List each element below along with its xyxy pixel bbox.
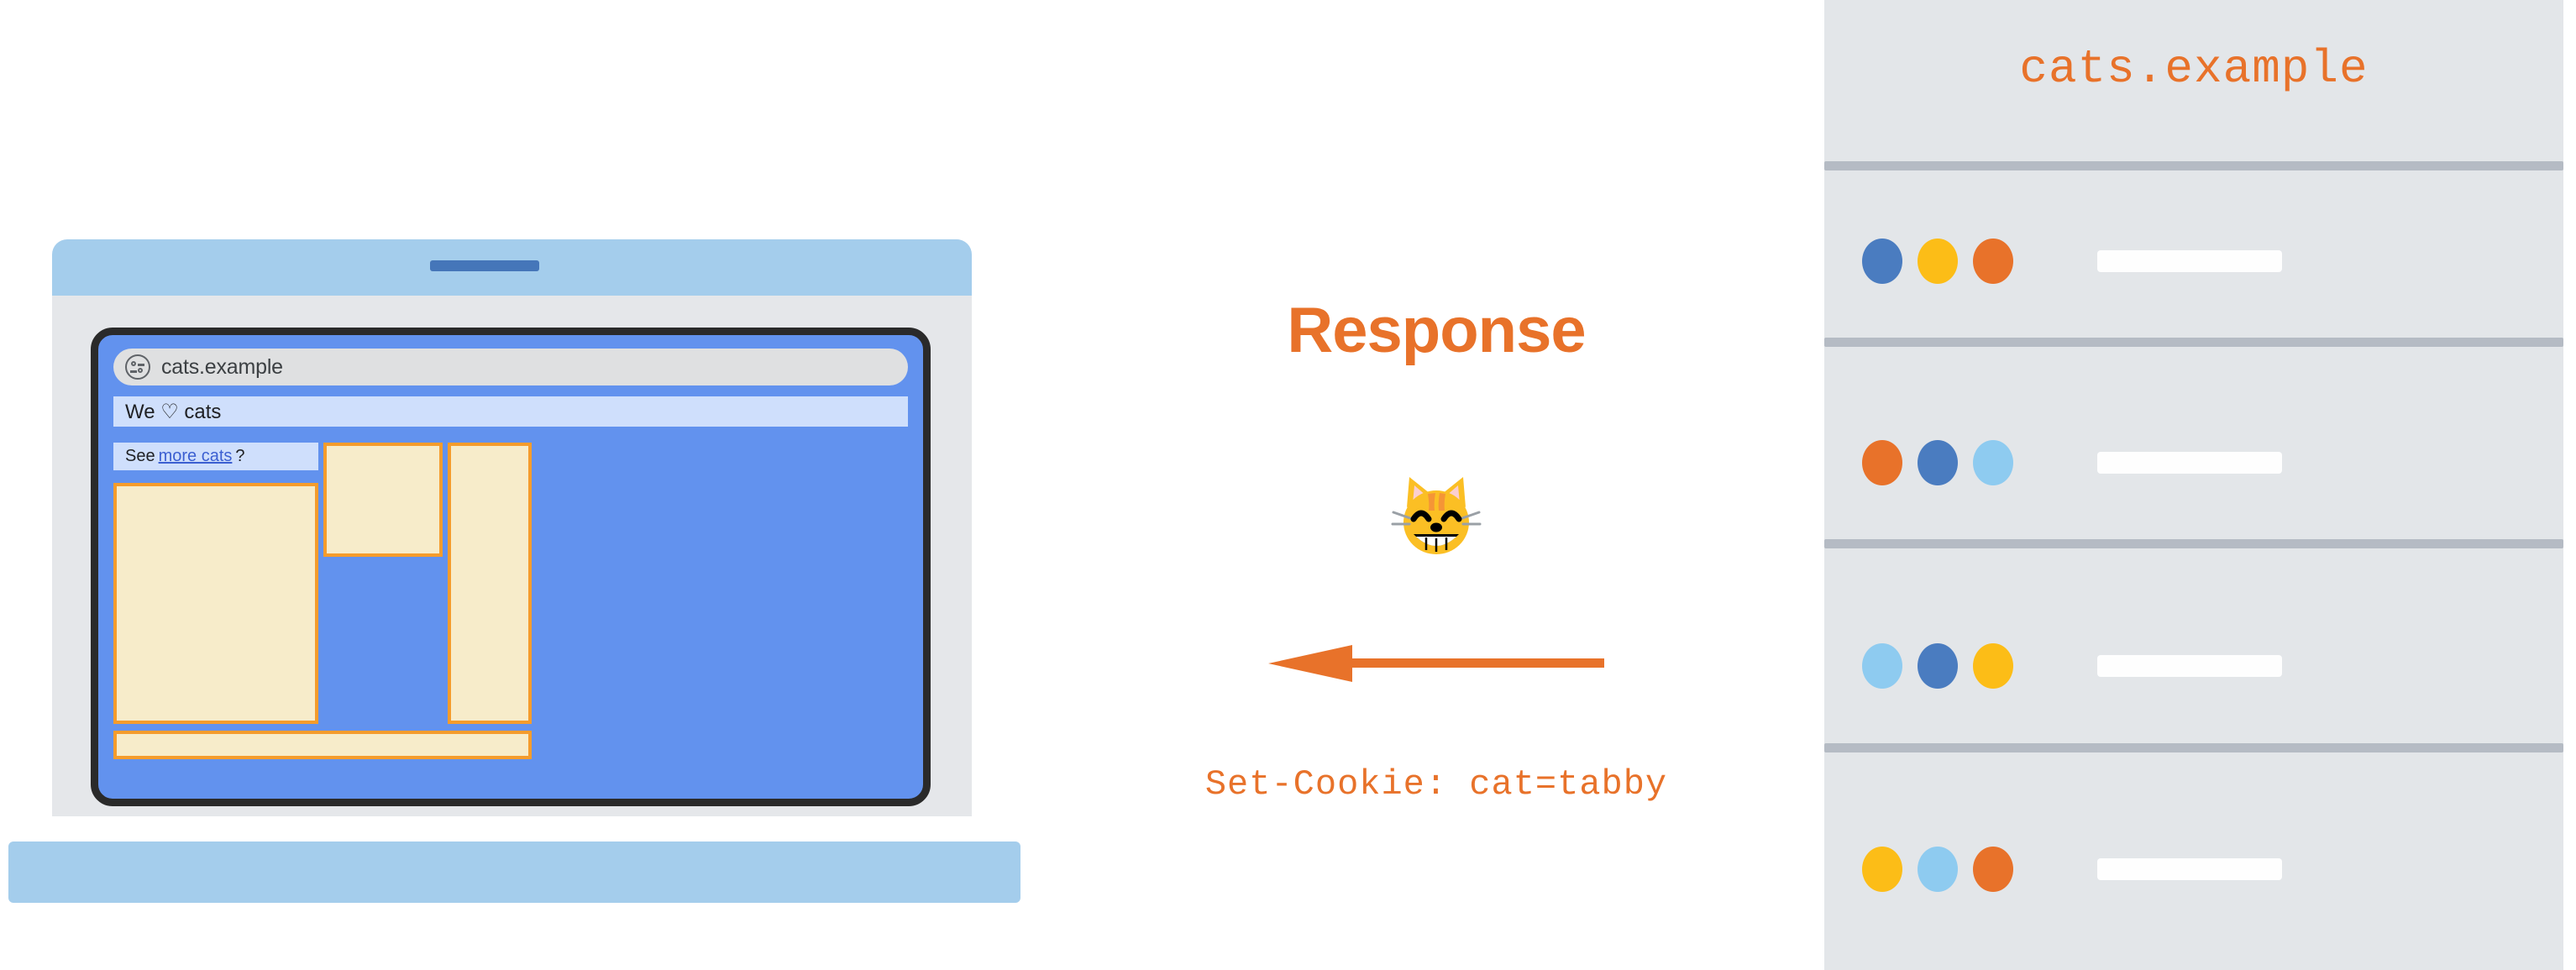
browser-window: cats.example We ♡ cats See more cats? — [91, 328, 931, 806]
server-dot — [1973, 643, 2013, 689]
laptop-lid-scribble — [430, 260, 539, 271]
site-settings-icon-line-bottom — [130, 370, 137, 373]
cat-emoji-container — [1058, 470, 1814, 567]
response-title: Response — [1058, 294, 1814, 367]
server-panel: cats.example — [1824, 0, 2563, 970]
server-dot — [1918, 847, 1958, 892]
laptop-base — [8, 842, 1020, 903]
server-row-placeholder-line — [2097, 250, 2282, 272]
server-divider-0 — [1824, 161, 2563, 170]
server-divider-3 — [1824, 743, 2563, 752]
server-dot — [1862, 847, 1902, 892]
laptop-illustration: cats.example We ♡ cats See more cats? — [0, 0, 1058, 970]
server-row — [1824, 638, 2563, 694]
server-row-placeholder-line — [2097, 452, 2282, 474]
site-settings-icon-dot-top — [131, 361, 136, 366]
address-bar[interactable]: cats.example — [113, 349, 908, 385]
server-dot — [1973, 847, 2013, 892]
response-arrow-container — [1058, 638, 1814, 693]
server-row — [1824, 842, 2563, 897]
site-settings-icon-dot-bottom — [138, 368, 143, 373]
address-bar-url[interactable]: cats.example — [161, 355, 283, 380]
site-settings-icon[interactable] — [125, 354, 150, 380]
server-dot — [1918, 440, 1958, 485]
set-cookie-header-text: Set-Cookie: cat=tabby — [1058, 764, 1814, 805]
server-row — [1824, 233, 2563, 289]
server-row-placeholder-line — [2097, 858, 2282, 880]
server-dot — [1973, 440, 2013, 485]
link-line-prefix: See — [125, 447, 155, 466]
server-row-placeholder-line — [2097, 655, 2282, 677]
server-title: cats.example — [1824, 42, 2563, 96]
page-heading: We ♡ cats — [113, 396, 908, 427]
server-divider-1 — [1824, 338, 2563, 347]
content-block-footer — [113, 731, 532, 759]
server-dot — [1862, 643, 1902, 689]
content-block-sidebar — [448, 443, 532, 724]
content-block-main — [113, 483, 318, 724]
content-block-top-middle — [323, 443, 443, 557]
server-divider-2 — [1824, 539, 2563, 548]
page-link-line: See more cats? — [113, 443, 318, 470]
content-block-middle-empty — [323, 562, 443, 724]
more-cats-link[interactable]: more cats — [159, 447, 233, 466]
left-arrow-icon — [1268, 678, 1604, 692]
server-dot — [1862, 440, 1902, 485]
link-line-suffix: ? — [235, 447, 244, 466]
server-dot — [1918, 239, 1958, 284]
server-dot — [1918, 643, 1958, 689]
server-dot — [1862, 239, 1902, 284]
server-row — [1824, 435, 2563, 490]
grinning-cat-icon — [1390, 470, 1482, 567]
server-dot — [1973, 239, 2013, 284]
response-column: Response — [1058, 0, 1814, 970]
site-settings-icon-line-top — [138, 364, 144, 366]
